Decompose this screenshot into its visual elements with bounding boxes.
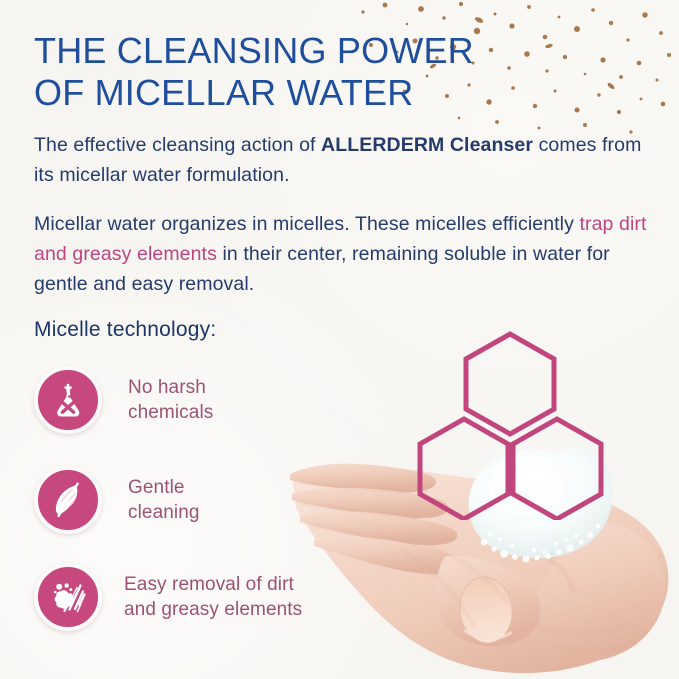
p1-text-before: The effective cleansing action of (34, 134, 321, 156)
feature-item-gentle-cleaning: Gentle cleaning (34, 466, 200, 534)
hexagon-bottom-left (420, 419, 508, 519)
micelle-hexagons-graphic (400, 330, 679, 520)
p2-text-before: Micellar water organizes in micelles. Th… (34, 213, 579, 235)
hexagon-top (466, 334, 554, 434)
flask-no-chemicals-icon (34, 366, 102, 434)
page-title: THE CLEANSING POWER OF MICELLAR WATER (34, 30, 474, 114)
paragraph-micelles-explanation: Micellar water organizes in micelles. Th… (34, 209, 664, 299)
splash-dirt-removal-icon (34, 563, 102, 631)
section-heading-micelle-technology: Micelle technology: (34, 318, 216, 342)
product-name-allerderm-cleanser: ALLERDERM Cleanser (321, 134, 533, 156)
infographic-canvas: THE CLEANSING POWER OF MICELLAR WATER Th… (0, 0, 679, 679)
feature-item-easy-removal: Easy removal of dirt and greasy elements (34, 563, 302, 631)
feature-item-no-harsh-chemicals: No harsh chemicals (34, 366, 213, 434)
feature-label: No harsh chemicals (128, 375, 213, 425)
hexagon-bottom-right (513, 419, 601, 519)
feather-gentle-icon (34, 466, 102, 534)
feature-label: Gentle cleaning (128, 475, 200, 525)
paragraph-effective-cleansing: The effective cleansing action of ALLERD… (34, 130, 664, 190)
feature-label: Easy removal of dirt and greasy elements (124, 572, 302, 622)
